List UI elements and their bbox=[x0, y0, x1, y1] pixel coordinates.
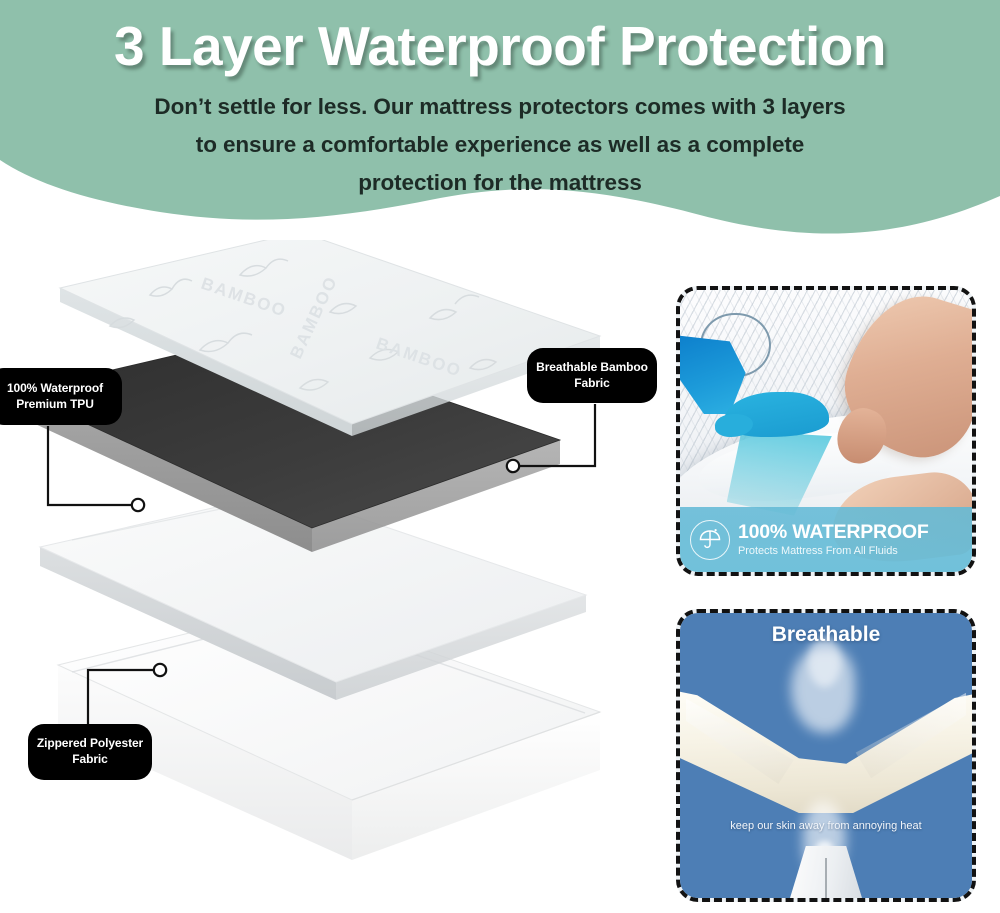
subtitle-line-1: Don’t settle for less. Our mattress prot… bbox=[0, 88, 1000, 126]
breathable-panel-title: Breathable bbox=[680, 623, 972, 647]
umbrella-icon bbox=[690, 520, 730, 560]
subtitle-line-2: to ensure a comfortable experience as we… bbox=[0, 126, 1000, 164]
callout-label-zippered-polyester: Zippered Polyester Fabric bbox=[28, 724, 152, 780]
waterproof-banner: 100% WATERPROOF Protects Mattress From A… bbox=[680, 507, 972, 572]
callout-bamboo-line-1: Breathable Bamboo bbox=[536, 360, 648, 374]
header-banner: 3 Layer Waterproof Protection Don’t sett… bbox=[0, 0, 1000, 240]
breathable-feature-panel: Breathable keep our skin away from annoy… bbox=[676, 609, 976, 902]
anchor-dot-zipper bbox=[154, 664, 166, 676]
waterproof-feature-panel: 100% WATERPROOF Protects Mattress From A… bbox=[676, 286, 976, 576]
page-title: 3 Layer Waterproof Protection bbox=[0, 0, 1000, 74]
exploded-layers-diagram: BAMBOO BAMBOO BAMBOO bbox=[0, 240, 660, 913]
callout-zipper-line-1: Zippered Polyester bbox=[37, 736, 143, 750]
callout-tpu-line-1: 100% Waterproof bbox=[7, 381, 103, 395]
anchor-dot-tpu bbox=[132, 499, 144, 511]
humidifier-seam bbox=[825, 858, 827, 898]
callout-bamboo-line-2: Fabric bbox=[574, 376, 609, 390]
callout-zipper-line-2: Fabric bbox=[72, 752, 107, 766]
waterproof-banner-subtitle: Protects Mattress From All Fluids bbox=[738, 545, 929, 557]
header-subtitle: Don’t settle for less. Our mattress prot… bbox=[0, 88, 1000, 201]
anchor-dot-bamboo bbox=[507, 460, 519, 472]
subtitle-line-3: protection for the mattress bbox=[0, 164, 1000, 202]
callout-label-bamboo-fabric: Breathable Bamboo Fabric bbox=[527, 348, 657, 403]
exploded-layers-illustration: BAMBOO BAMBOO BAMBOO bbox=[0, 240, 660, 913]
breathable-photo bbox=[680, 613, 972, 898]
callout-label-waterproof-tpu: 100% Waterproof Premium TPU bbox=[0, 368, 122, 425]
breathable-panel-caption: keep our skin away from annoying heat bbox=[680, 820, 972, 832]
umbrella-glyph bbox=[697, 527, 723, 553]
callout-tpu-line-2: Premium TPU bbox=[16, 397, 94, 411]
waterproof-banner-title: 100% WATERPROOF bbox=[738, 522, 929, 542]
